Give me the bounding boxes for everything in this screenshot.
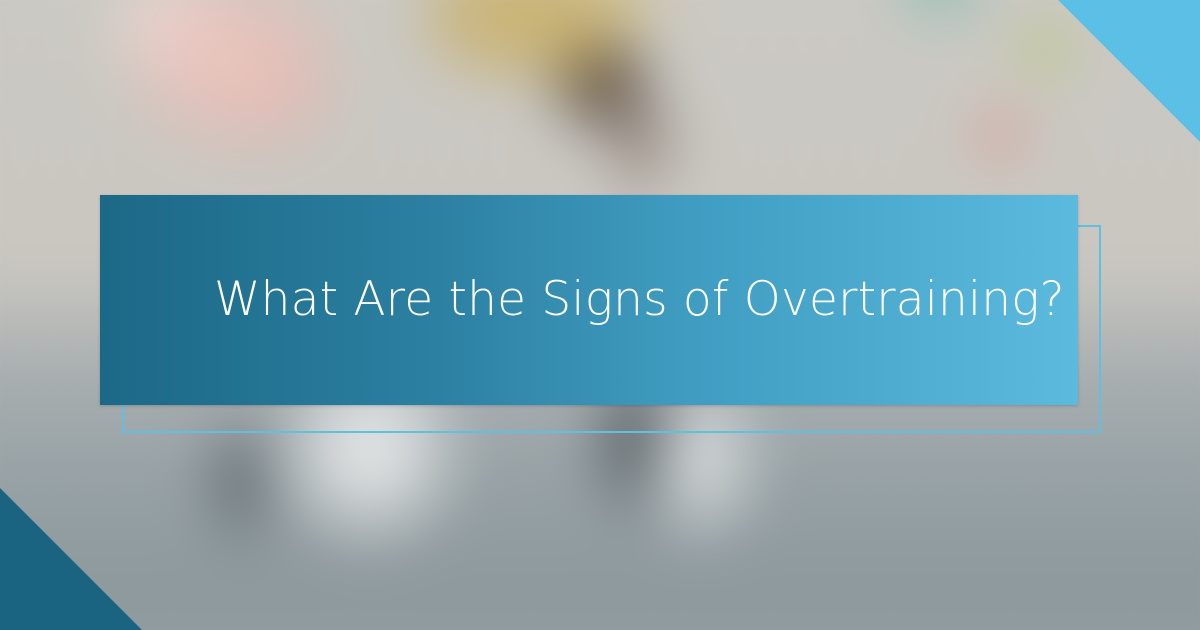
banner-stage: What Are the Signs of Overtraining? [0, 0, 1200, 630]
banner-panel: What Are the Signs of Overtraining? [100, 195, 1078, 405]
page-title: What Are the Signs of Overtraining? [100, 274, 1065, 326]
